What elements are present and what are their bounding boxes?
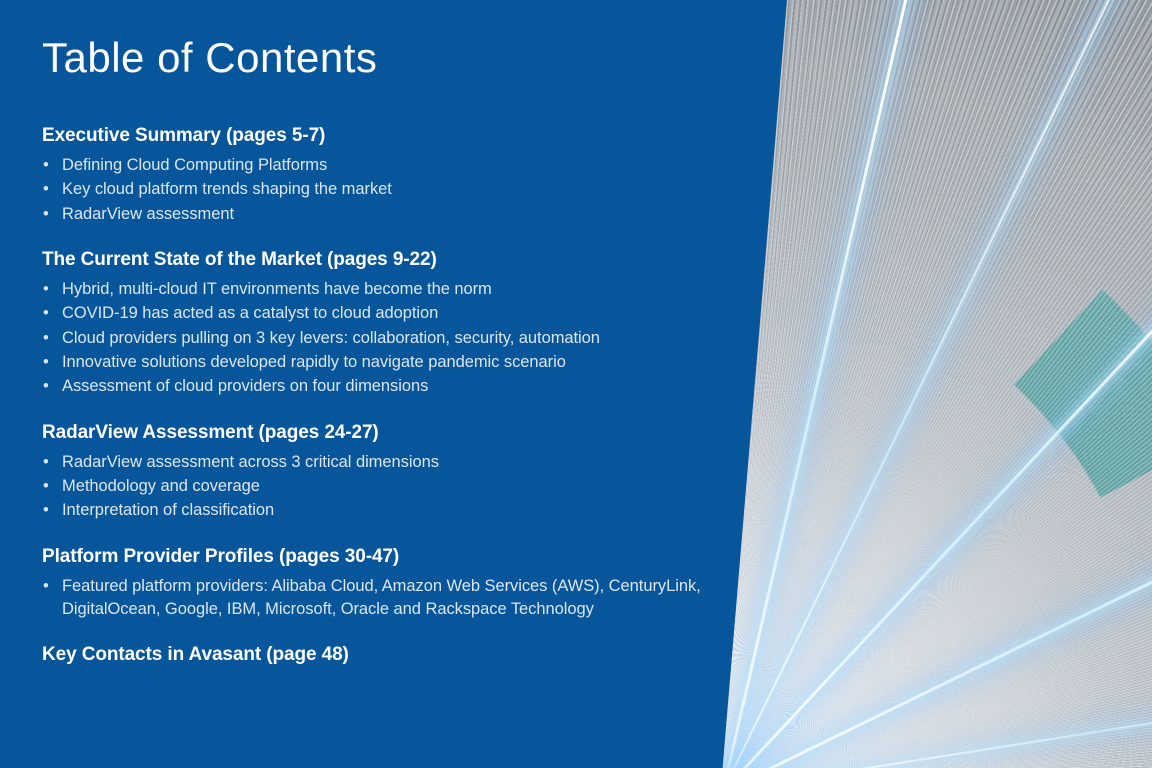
toc-bullet-label: COVID-19 has acted as a catalyst to clou… xyxy=(62,304,438,322)
toc-bullet-label: Featured platform providers: Alibaba Clo… xyxy=(62,577,701,618)
toc-bullet-label: Hybrid, multi-cloud IT environments have… xyxy=(62,280,492,298)
toc-section-heading[interactable]: RadarView Assessment (pages 24-27) xyxy=(42,421,702,445)
toc-bullet-item[interactable]: •RadarView assessment across 3 critical … xyxy=(42,451,702,474)
toc-bullet-label: Methodology and coverage xyxy=(62,477,260,495)
toc-bullet-item[interactable]: •Innovative solutions developed rapidly … xyxy=(42,351,702,374)
bullet-point-icon: • xyxy=(43,475,49,498)
toc-section-heading[interactable]: Platform Provider Profiles (pages 30-47) xyxy=(42,545,702,569)
bullet-point-icon: • xyxy=(43,302,49,325)
table-of-contents: Executive Summary (pages 5-7)•Defining C… xyxy=(42,124,702,673)
page-title: Table of Contents xyxy=(42,37,377,79)
toc-bullet-list: •Featured platform providers: Alibaba Cl… xyxy=(42,575,702,622)
toc-bullet-item[interactable]: •Featured platform providers: Alibaba Cl… xyxy=(42,575,702,622)
toc-section: The Current State of the Market (pages 9… xyxy=(42,248,702,399)
toc-bullet-item[interactable]: •Interpretation of classification xyxy=(42,499,702,522)
bullet-point-icon: • xyxy=(43,178,49,201)
bullet-point-icon: • xyxy=(43,327,49,350)
toc-bullet-list: •Defining Cloud Computing Platforms•Key … xyxy=(42,154,702,226)
bullet-point-icon: • xyxy=(43,154,49,177)
toc-bullet-item[interactable]: •Cloud providers pulling on 3 key levers… xyxy=(42,327,702,350)
slide-canvas: Table of Contents Executive Summary (pag… xyxy=(0,0,1152,768)
toc-section: Executive Summary (pages 5-7)•Defining C… xyxy=(42,124,702,226)
bullet-point-icon: • xyxy=(43,499,49,522)
bullet-point-icon: • xyxy=(43,203,49,226)
toc-section: RadarView Assessment (pages 24-27)•Radar… xyxy=(42,421,702,523)
toc-section: Key Contacts in Avasant (page 48) xyxy=(42,643,702,667)
toc-bullet-label: Interpretation of classification xyxy=(62,501,274,519)
toc-bullet-item[interactable]: •Key cloud platform trends shaping the m… xyxy=(42,178,702,201)
toc-bullet-item[interactable]: •Methodology and coverage xyxy=(42,475,702,498)
bullet-point-icon: • xyxy=(43,278,49,301)
bullet-point-icon: • xyxy=(43,351,49,374)
toc-bullet-item[interactable]: •RadarView assessment xyxy=(42,203,702,226)
bullet-point-icon: • xyxy=(43,451,49,474)
toc-bullet-item[interactable]: •Hybrid, multi-cloud IT environments hav… xyxy=(42,278,702,301)
bullet-point-icon: • xyxy=(43,375,49,398)
toc-section-heading[interactable]: Executive Summary (pages 5-7) xyxy=(42,124,702,148)
radial-fan-graphic xyxy=(720,0,1152,768)
toc-bullet-item[interactable]: •COVID-19 has acted as a catalyst to clo… xyxy=(42,302,702,325)
toc-bullet-label: RadarView assessment across 3 critical d… xyxy=(62,453,439,471)
bullet-point-icon: • xyxy=(43,575,49,598)
toc-bullet-list: •RadarView assessment across 3 critical … xyxy=(42,451,702,523)
toc-bullet-item[interactable]: •Assessment of cloud providers on four d… xyxy=(42,375,702,398)
toc-section: Platform Provider Profiles (pages 30-47)… xyxy=(42,545,702,622)
toc-bullet-label: Assessment of cloud providers on four di… xyxy=(62,377,428,395)
toc-section-heading[interactable]: Key Contacts in Avasant (page 48) xyxy=(42,643,702,667)
toc-bullet-item[interactable]: •Defining Cloud Computing Platforms xyxy=(42,154,702,177)
toc-bullet-label: Innovative solutions developed rapidly t… xyxy=(62,353,566,371)
toc-bullet-label: Cloud providers pulling on 3 key levers:… xyxy=(62,329,600,347)
toc-bullet-list: •Hybrid, multi-cloud IT environments hav… xyxy=(42,278,702,399)
toc-section-heading[interactable]: The Current State of the Market (pages 9… xyxy=(42,248,702,272)
toc-bullet-label: Key cloud platform trends shaping the ma… xyxy=(62,180,392,198)
toc-bullet-label: RadarView assessment xyxy=(62,205,234,223)
fan-bloom-overlay xyxy=(720,0,1152,768)
toc-bullet-label: Defining Cloud Computing Platforms xyxy=(62,156,327,174)
